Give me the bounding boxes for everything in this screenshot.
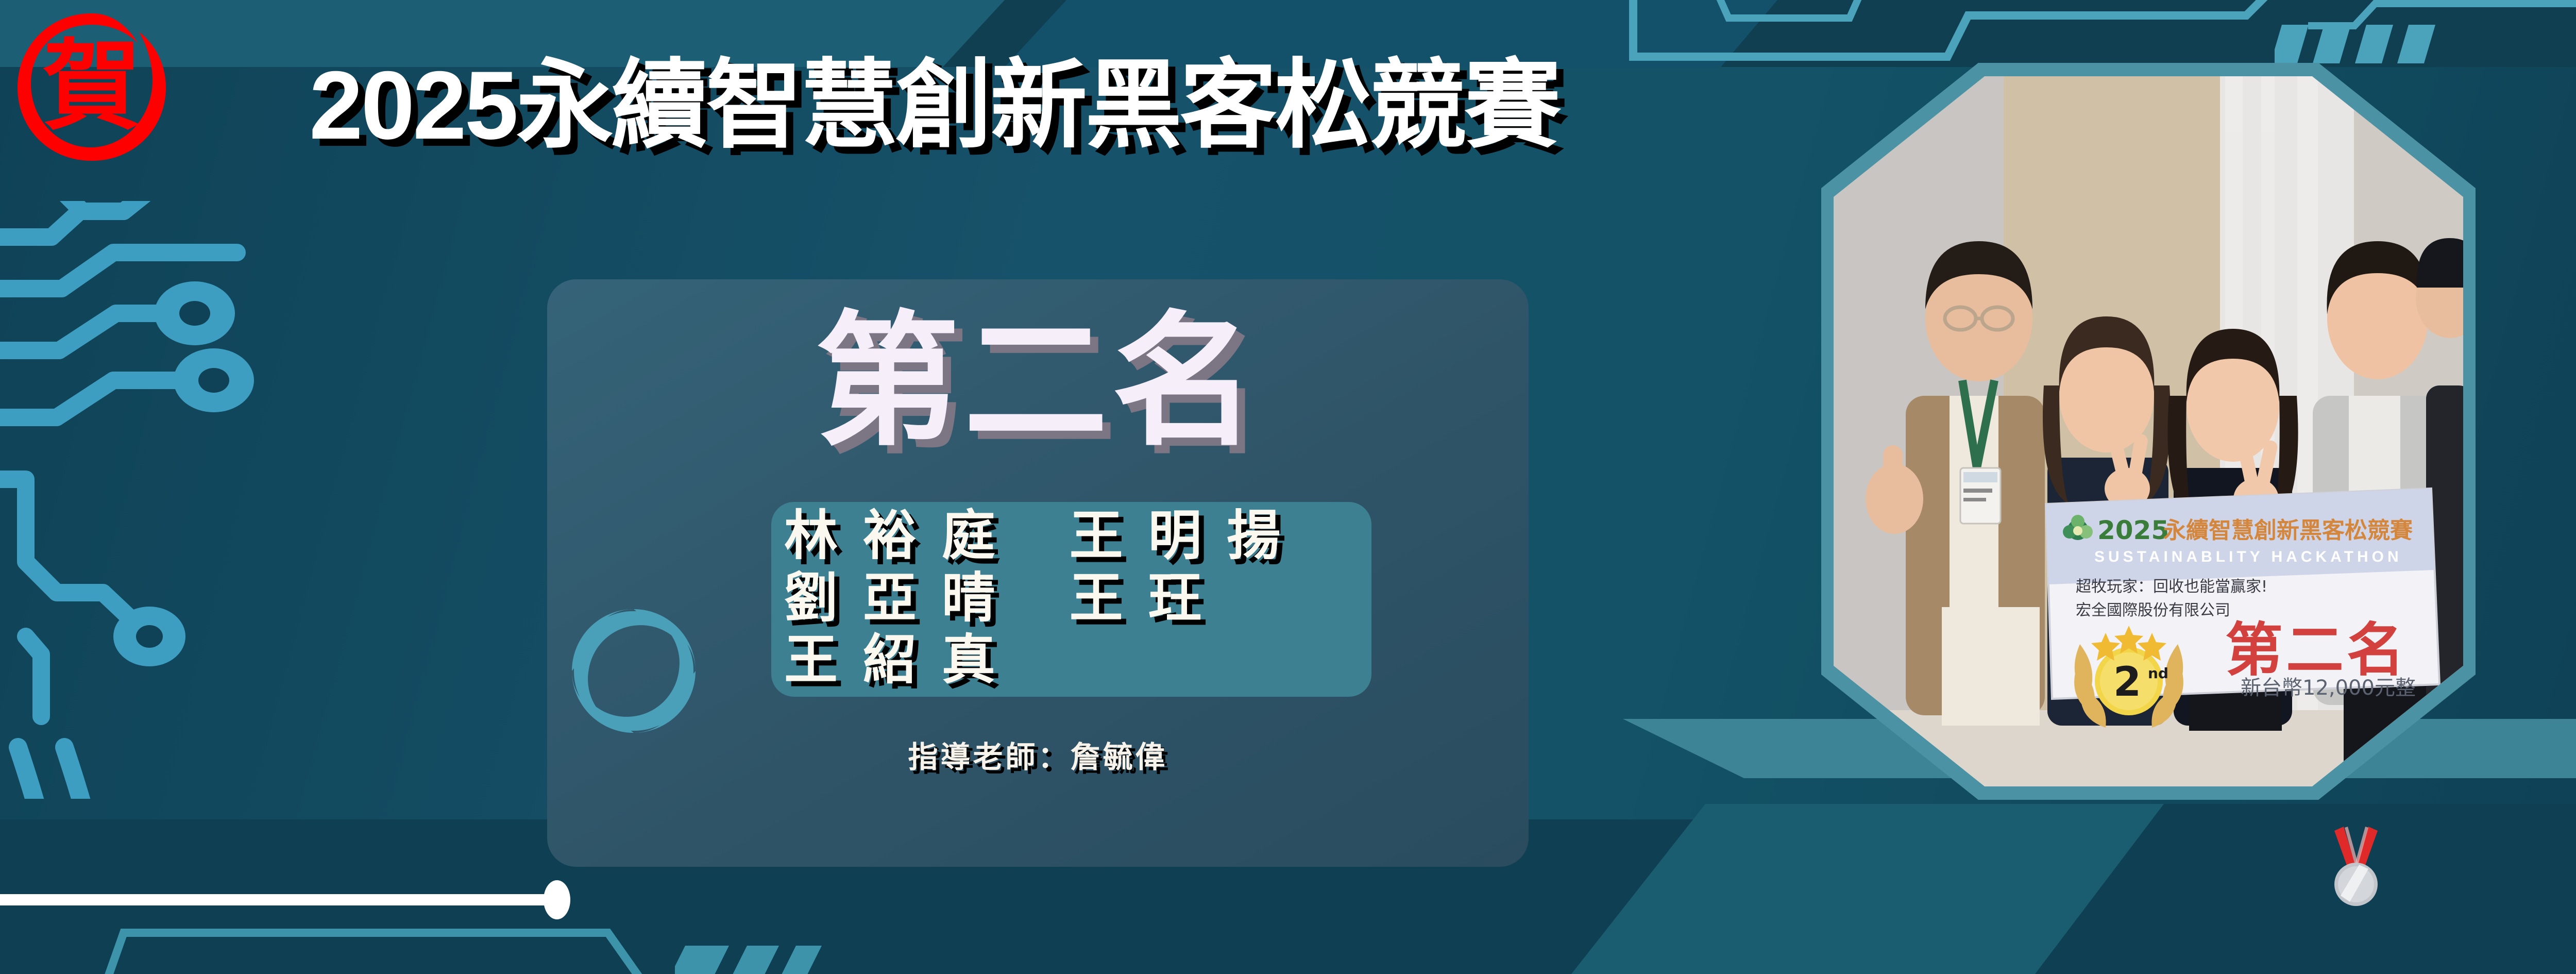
red-brush-seal-icon: 賀 — [9, 4, 174, 169]
congratulations-banner: 賀 2025永續智慧創新黑客松競賽 第二名 — [0, 0, 2576, 974]
silver-medal-icon — [2325, 824, 2387, 909]
board-prize-amount: 新台幣12,000元整 — [2241, 676, 2416, 700]
accent-line — [0, 894, 567, 905]
board-event-title-en: SUSTAINABLITY HACKATHON — [2094, 548, 2402, 565]
member-name: 劉 亞 晴 — [784, 568, 1001, 628]
circuit-board-decoration — [0, 201, 325, 799]
seal-character: 賀 — [43, 29, 141, 143]
board-medal-suffix: nd — [2148, 665, 2168, 682]
board-medal-number: 2 — [2113, 659, 2141, 706]
award-card: 第二名 林 裕 庭 王 明 揚 — [547, 279, 1529, 867]
swirl-logo-icon — [556, 594, 711, 748]
photo-frame: 2025 永續智慧創新黑客松競賽 SUSTAINABLITY HACKATHON… — [1821, 63, 2476, 800]
board-year: 2025 — [2097, 515, 2169, 545]
board-rank-text: 第二名 — [2225, 617, 2408, 684]
page-title: 2025永續智慧創新黑客松競賽 — [309, 57, 1559, 154]
list-item: 林 裕 庭 王 明 揚 — [784, 505, 1382, 567]
team-photo: 2025 永續智慧創新黑客松競賽 SUSTAINABLITY HACKATHON… — [1834, 76, 2463, 786]
member-name: 王 紹 真 — [784, 630, 1001, 690]
advisor-label: 指導老師：詹毓偉 — [547, 733, 1529, 776]
tech-trapezoid-bottom-left — [93, 928, 711, 974]
board-sponsor: 宏全國際股份有限公司 — [2076, 601, 2230, 619]
award-board: 2025 永續智慧創新黑客松競賽 SUSTAINABLITY HACKATHON… — [2046, 489, 2439, 728]
member-name: 王 玨 — [1070, 568, 1207, 628]
member-name: 王 明 揚 — [1070, 506, 1286, 566]
list-item: 劉 亞 晴 王 玨 — [784, 567, 1382, 630]
list-item: 王 紹 真 — [784, 629, 1382, 692]
accent-line-endpoint — [544, 880, 570, 919]
members-list: 林 裕 庭 王 明 揚 劉 亞 晴 王 玨 王 紹 真 — [784, 505, 1382, 692]
rank-title: 第二名 — [547, 306, 1529, 458]
board-project-name: 超牧玩家：回收也能當贏家! — [2076, 578, 2267, 596]
tech-line-top-right-edge — [2308, 0, 2576, 33]
member-name: 林 裕 庭 — [784, 506, 1001, 566]
board-event-title: 永續智慧創新黑客松競賽 — [2163, 517, 2413, 544]
slanted-bars-bottom-left — [675, 946, 891, 974]
